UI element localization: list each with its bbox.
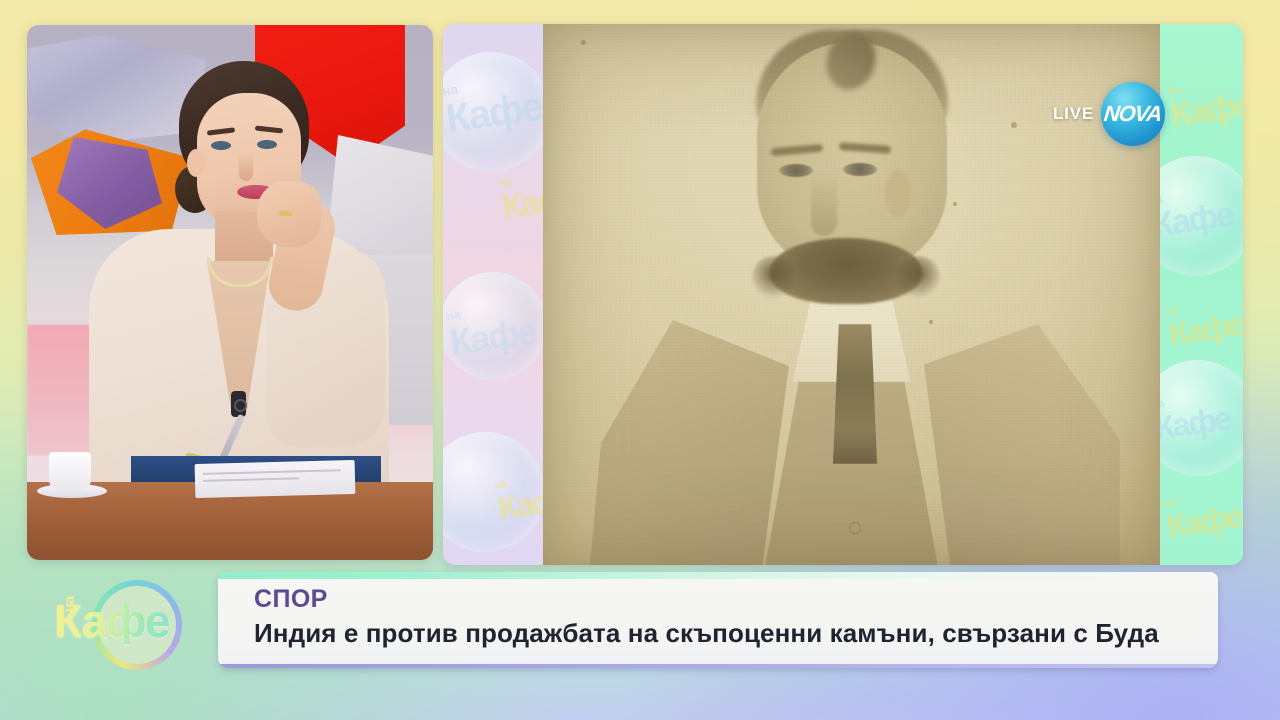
portrait-jacket-right [924, 324, 1120, 565]
coffee-cup [49, 452, 91, 490]
watermark-logo: наКафе [1167, 77, 1243, 136]
desk-papers [195, 460, 356, 498]
watermark-logo: наКафе [494, 471, 543, 527]
portrait-jacket-left [589, 320, 789, 565]
photo-speck [953, 202, 957, 206]
photo-speck [581, 40, 586, 45]
studio-video-panel[interactable] [27, 25, 433, 560]
banner-top-accent [218, 572, 1218, 579]
paper-line [203, 477, 299, 482]
portrait-vest-button [848, 522, 860, 534]
live-indicator-label: LIVE [1053, 104, 1094, 124]
live-channel-bug: LIVE NOVA [1053, 82, 1165, 146]
banner-text-block: СПОР Индия е против продажбата на скъпоц… [254, 586, 1159, 648]
nova-logo-text: NOVA [1103, 101, 1163, 127]
watermark-logo: наКафе [1163, 489, 1243, 545]
banner-kicker: СПОР [254, 586, 1159, 613]
lower-third-banner: СПОР Индия е против продажбата на скъпоц… [218, 572, 1218, 668]
host-nose [239, 153, 253, 181]
nova-logo-icon: NOVA [1101, 82, 1165, 146]
photo-speck [1011, 122, 1017, 128]
lapel-microphone [231, 391, 246, 417]
right-watermark-column: наКафе наКафе наКафе наКафе наКафе [1160, 24, 1243, 565]
show-logo: на Кафе [40, 578, 220, 670]
left-watermark-column: наКафе наКафе наКафе наКафе [443, 24, 543, 565]
portrait-eye-right [843, 163, 877, 176]
archival-photo-panel[interactable]: наКафе наКафе наКафе наКафе наКафе наКаф… [443, 24, 1243, 565]
banner-headline: Индия е против продажбата на скъпоценни … [254, 619, 1159, 648]
logo-name-text: Кафе [54, 598, 224, 644]
portrait-nose [811, 174, 837, 236]
banner-bottom-accent [218, 664, 1218, 668]
host-eye-left [211, 141, 231, 150]
host-ear [187, 149, 205, 177]
portrait-ear [885, 170, 911, 218]
host-eye-right [257, 140, 277, 149]
photo-speck [929, 320, 933, 324]
watermark-logo: наКафе [498, 169, 543, 228]
watermark-logo: наКафе [1165, 297, 1243, 353]
paper-line [203, 469, 341, 475]
portrait-moustache [769, 238, 921, 304]
host-ring [279, 211, 292, 216]
portrait-eye-left [779, 164, 813, 177]
